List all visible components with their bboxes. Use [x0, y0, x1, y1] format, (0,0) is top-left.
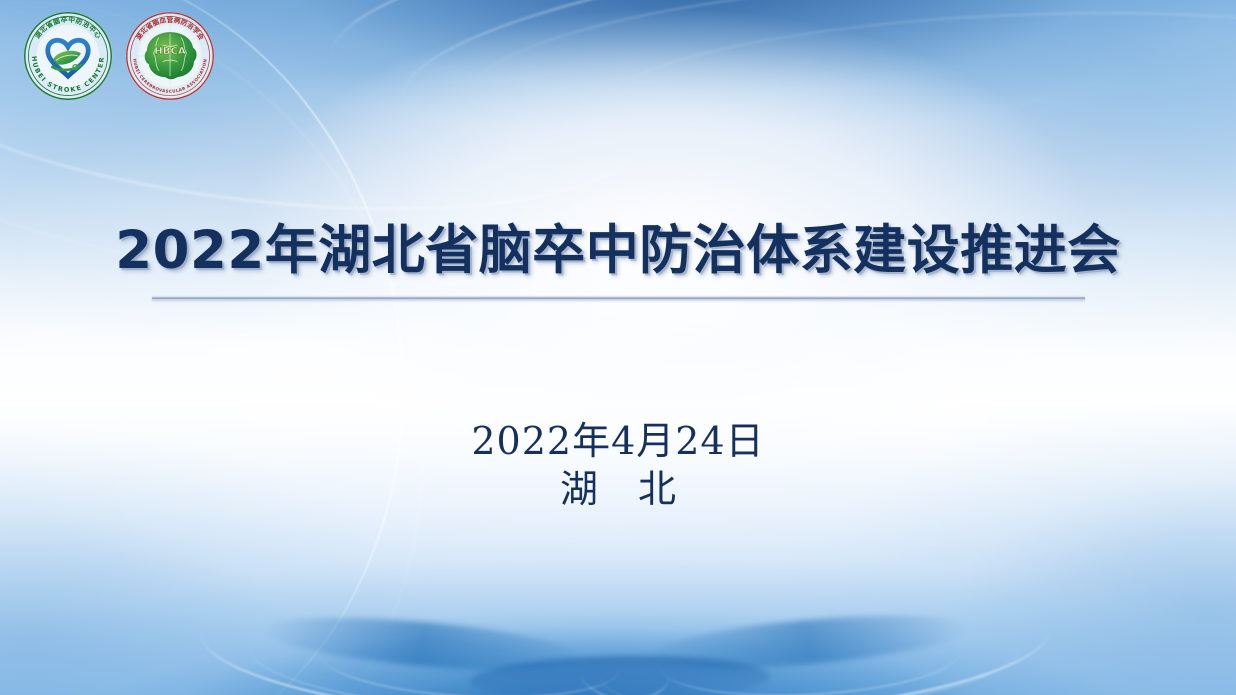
background-bottom-left-glow: [0, 0, 1236, 695]
logo-strip: 湖北省脑卒中防治中心 HUBEI STROKE CENTER: [22, 10, 216, 102]
background-base-gradient: [0, 0, 1236, 695]
background-top-blue-cap: [0, 0, 1236, 695]
background-wave-stroke-2: [247, 603, 672, 695]
background-wave-stroke-4: [597, 601, 1022, 695]
slide-main-title: 2022年湖北省脑卒中防治体系建设推进会: [0, 222, 1236, 279]
event-location: 湖 北: [0, 466, 1236, 514]
background-ribbon-1: [324, 0, 1236, 164]
background-wave-lens-2: [647, 606, 970, 678]
background-silk-sweep-left: [0, 0, 1236, 695]
title-underline-rule: [152, 296, 1085, 300]
background-wave-stroke-3: [576, 574, 1055, 695]
background-ribbon-2: [392, 0, 1236, 199]
event-date: 2022年4月24日: [0, 418, 1236, 466]
background-arc-left-1: [0, 0, 462, 695]
background-bottom-wave-glow: [0, 0, 1236, 695]
background-wave-lens-3: [470, 653, 771, 695]
background-ribbon-3: [466, 0, 1236, 186]
presentation-slide: 湖北省脑卒中防治中心 HUBEI STROKE CENTER: [0, 0, 1236, 695]
background-bottom-wave-core: [0, 0, 1236, 695]
background-wave-stroke-6: [658, 616, 961, 695]
background-bottom-right-glow: [0, 0, 1236, 695]
background-silk-sweep-right: [0, 0, 1236, 695]
background-wave-lens-1: [261, 608, 584, 680]
logo-hubei-stroke-center: 湖北省脑卒中防治中心 HUBEI STROKE CENTER: [22, 10, 114, 102]
background-wave-stroke-1: [196, 578, 675, 695]
hbca-acronym: HBCA: [154, 46, 186, 57]
logo-hbca: 湖北省脑血管病防治学会 HUBEI CEREBROVASCULAR ASSOCI…: [124, 10, 216, 102]
title-block: 2022年湖北省脑卒中防治体系建设推进会: [0, 222, 1236, 300]
background-vignette: [0, 0, 1236, 695]
background-ribbon-4: [597, 0, 1236, 190]
background-wave-stroke-5: [318, 618, 621, 695]
subtitle-block: 2022年4月24日 湖 北: [0, 418, 1236, 514]
background-haze-band: [0, 0, 1236, 695]
background-pale-dome: [0, 0, 1236, 695]
background-arc-left-2: [0, 0, 502, 695]
